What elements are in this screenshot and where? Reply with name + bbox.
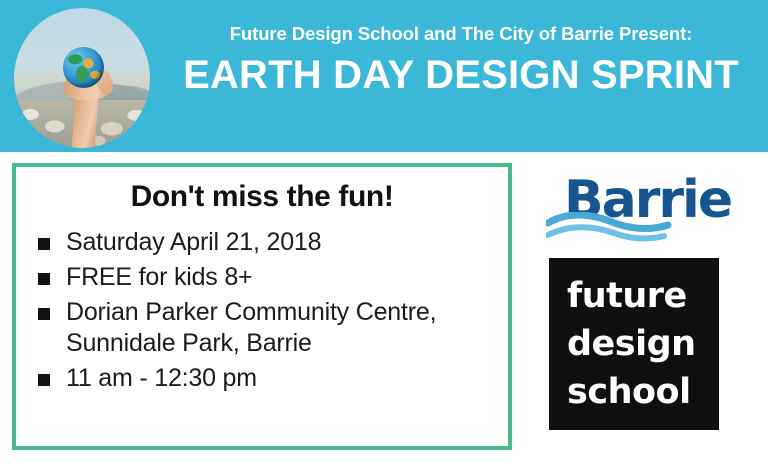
fds-logo-line-1: future bbox=[567, 272, 719, 320]
event-details-list: Saturday April 21, 2018 FREE for kids 8+… bbox=[16, 227, 508, 394]
square-bullet-icon bbox=[38, 374, 50, 386]
fds-logo-line-2: design bbox=[567, 320, 719, 368]
hand-holding-globe-photo bbox=[14, 8, 150, 148]
square-bullet-icon bbox=[38, 238, 50, 250]
list-item: Dorian Parker Community Centre, Sunnidal… bbox=[38, 297, 494, 359]
globe-icon bbox=[63, 47, 104, 88]
list-item-label: Dorian Parker Community Centre, Sunnidal… bbox=[66, 298, 436, 357]
barrie-wave-icon bbox=[546, 212, 686, 242]
square-bullet-icon bbox=[38, 273, 50, 285]
list-item: Saturday April 21, 2018 bbox=[38, 227, 494, 258]
presenter-line: Future Design School and The City of Bar… bbox=[166, 22, 756, 46]
page-title: EARTH DAY DESIGN SPRINT bbox=[166, 50, 756, 100]
future-design-school-logo: future design school bbox=[549, 258, 719, 430]
fds-logo-line-3: school bbox=[567, 368, 719, 416]
list-item-label: FREE for kids 8+ bbox=[66, 263, 252, 291]
city-of-barrie-logo: Barrie bbox=[546, 172, 746, 242]
square-bullet-icon bbox=[38, 308, 50, 320]
list-item-label: Saturday April 21, 2018 bbox=[66, 228, 321, 256]
header-text-block: Future Design School and The City of Bar… bbox=[166, 22, 756, 100]
event-details-box: Don't miss the fun! Saturday April 21, 2… bbox=[12, 163, 512, 450]
list-item: 11 am - 12:30 pm bbox=[38, 363, 494, 394]
list-item-label: 11 am - 12:30 pm bbox=[66, 364, 257, 392]
list-item: FREE for kids 8+ bbox=[38, 262, 494, 293]
event-header-banner: Future Design School and The City of Bar… bbox=[0, 0, 768, 152]
info-box-heading: Don't miss the fun! bbox=[16, 180, 508, 214]
